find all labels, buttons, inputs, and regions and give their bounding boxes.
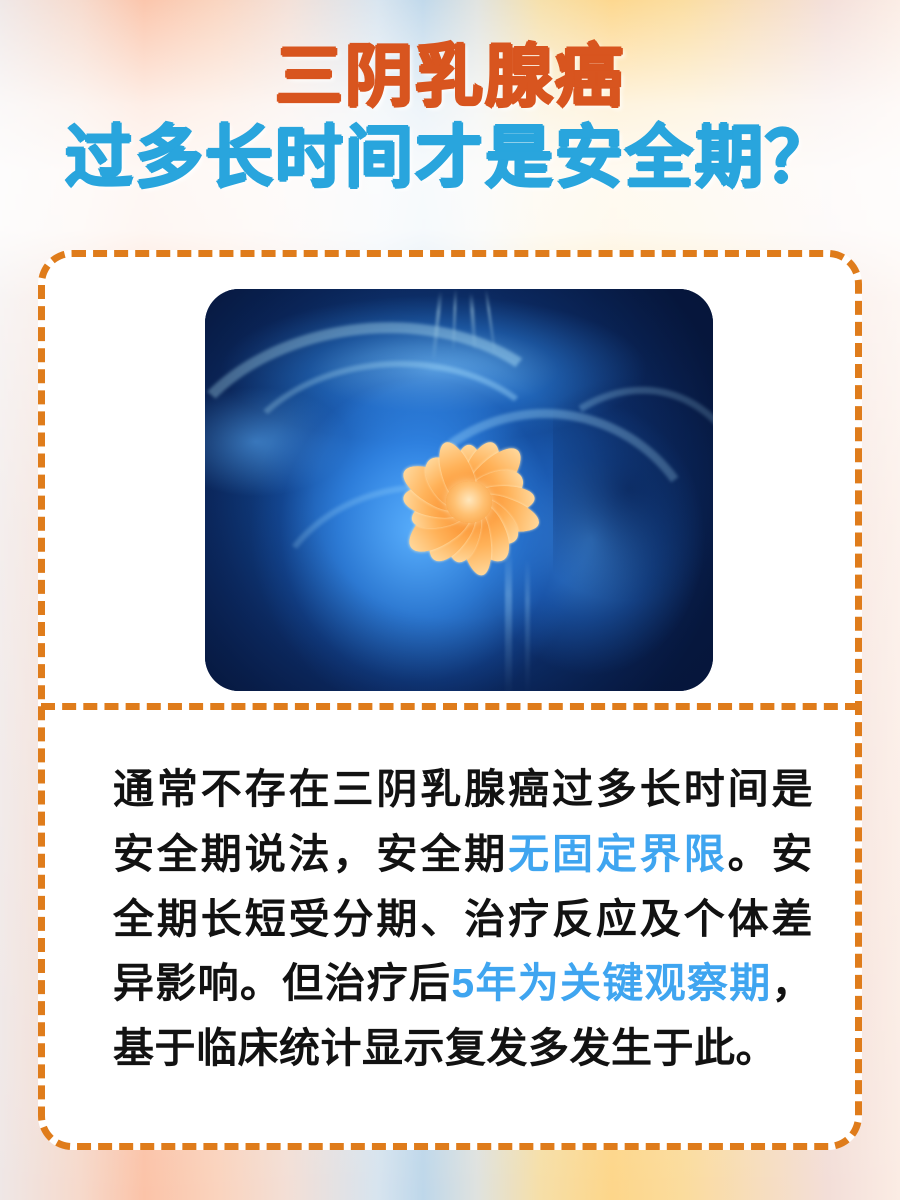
page-title-line-1: 三阴乳腺癌	[275, 43, 625, 112]
body-highlight-1: 无固定界限	[508, 831, 728, 877]
medical-illustration	[205, 289, 713, 691]
header: 三阴乳腺癌 过多长时间才是安全期？	[0, 0, 900, 228]
body-highlight-3: 5年为关键观察期	[451, 960, 771, 1006]
card-section-divider	[41, 703, 859, 710]
page-title-line-2: 过多长时间才是安全期？	[65, 124, 835, 193]
body-paragraph: 通常不存在三阴乳腺癌过多长时间是安全期说法，安全期无固定界限。安全期长短受分期、…	[113, 757, 813, 1081]
illustration-vignette	[205, 289, 713, 691]
dashed-content-card: 通常不存在三阴乳腺癌过多长时间是安全期说法，安全期无固定界限。安全期长短受分期、…	[38, 250, 862, 1150]
